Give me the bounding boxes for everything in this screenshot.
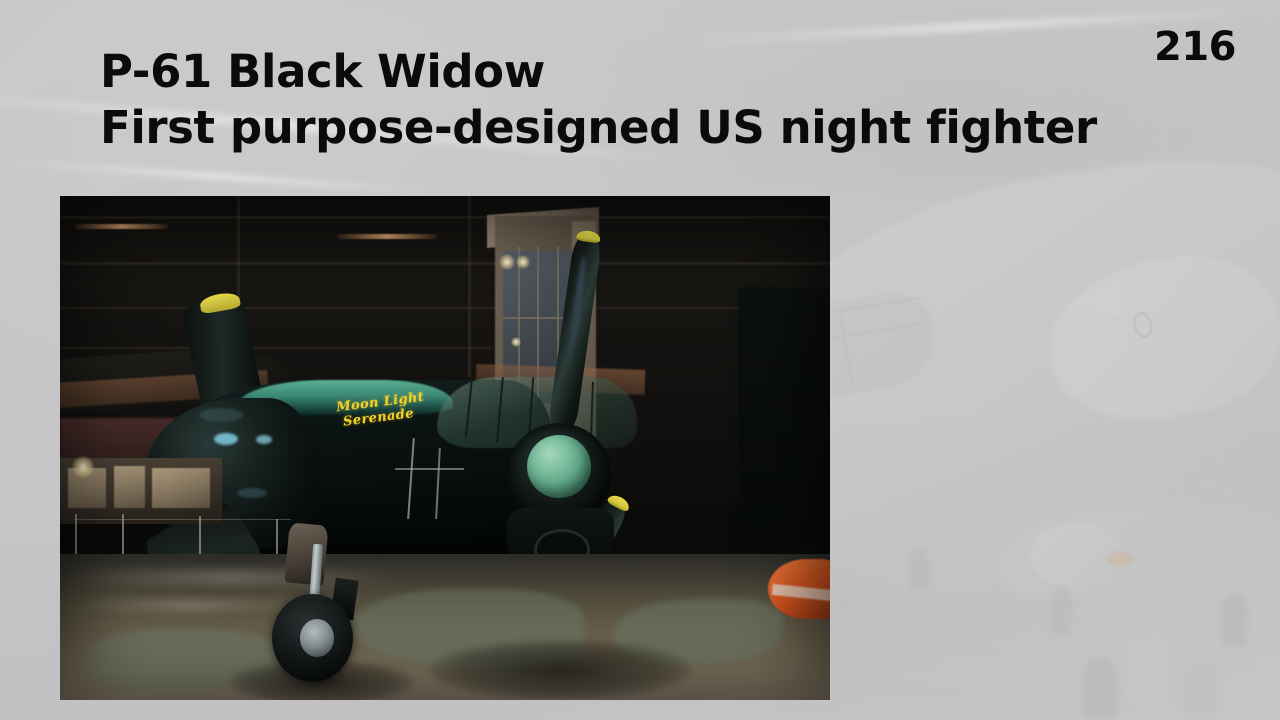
rope-barrier [75, 519, 291, 521]
floor-reflection [75, 599, 306, 611]
aircraft-shadow [430, 640, 692, 700]
fuselage-highlight [199, 408, 243, 422]
control-room-lamp [499, 254, 515, 270]
exhibit-lamp [72, 456, 94, 478]
ceiling-light [337, 234, 437, 239]
slide-title: P-61 Black Widow First purpose-designed … [100, 44, 1097, 156]
hangar-right-structure [738, 287, 830, 539]
roof-column [468, 196, 471, 377]
inset-photo-p61: Moon Light Serenade [60, 196, 830, 700]
stanchion-post [276, 519, 278, 559]
stanchion-post [199, 516, 201, 556]
ceiling-light [75, 224, 167, 229]
exhibit-display-panel [114, 466, 145, 509]
roof-truss [60, 347, 491, 349]
nose-gear-hub [300, 619, 334, 656]
roof-truss [60, 262, 830, 265]
exhibit-display-panel [152, 468, 210, 508]
roof-truss [60, 216, 830, 219]
title-line-2: First purpose-designed US night fighter [100, 100, 1097, 156]
presentation-slide: P-61 Black Widow First purpose-designed … [0, 0, 1280, 720]
fuselage-highlight [214, 433, 238, 445]
propeller-spinner [527, 435, 591, 499]
antenna-crossbar [395, 468, 464, 470]
title-line-1: P-61 Black Widow [100, 44, 1097, 100]
slide-number: 216 [1154, 24, 1236, 70]
roof-truss [60, 307, 830, 309]
